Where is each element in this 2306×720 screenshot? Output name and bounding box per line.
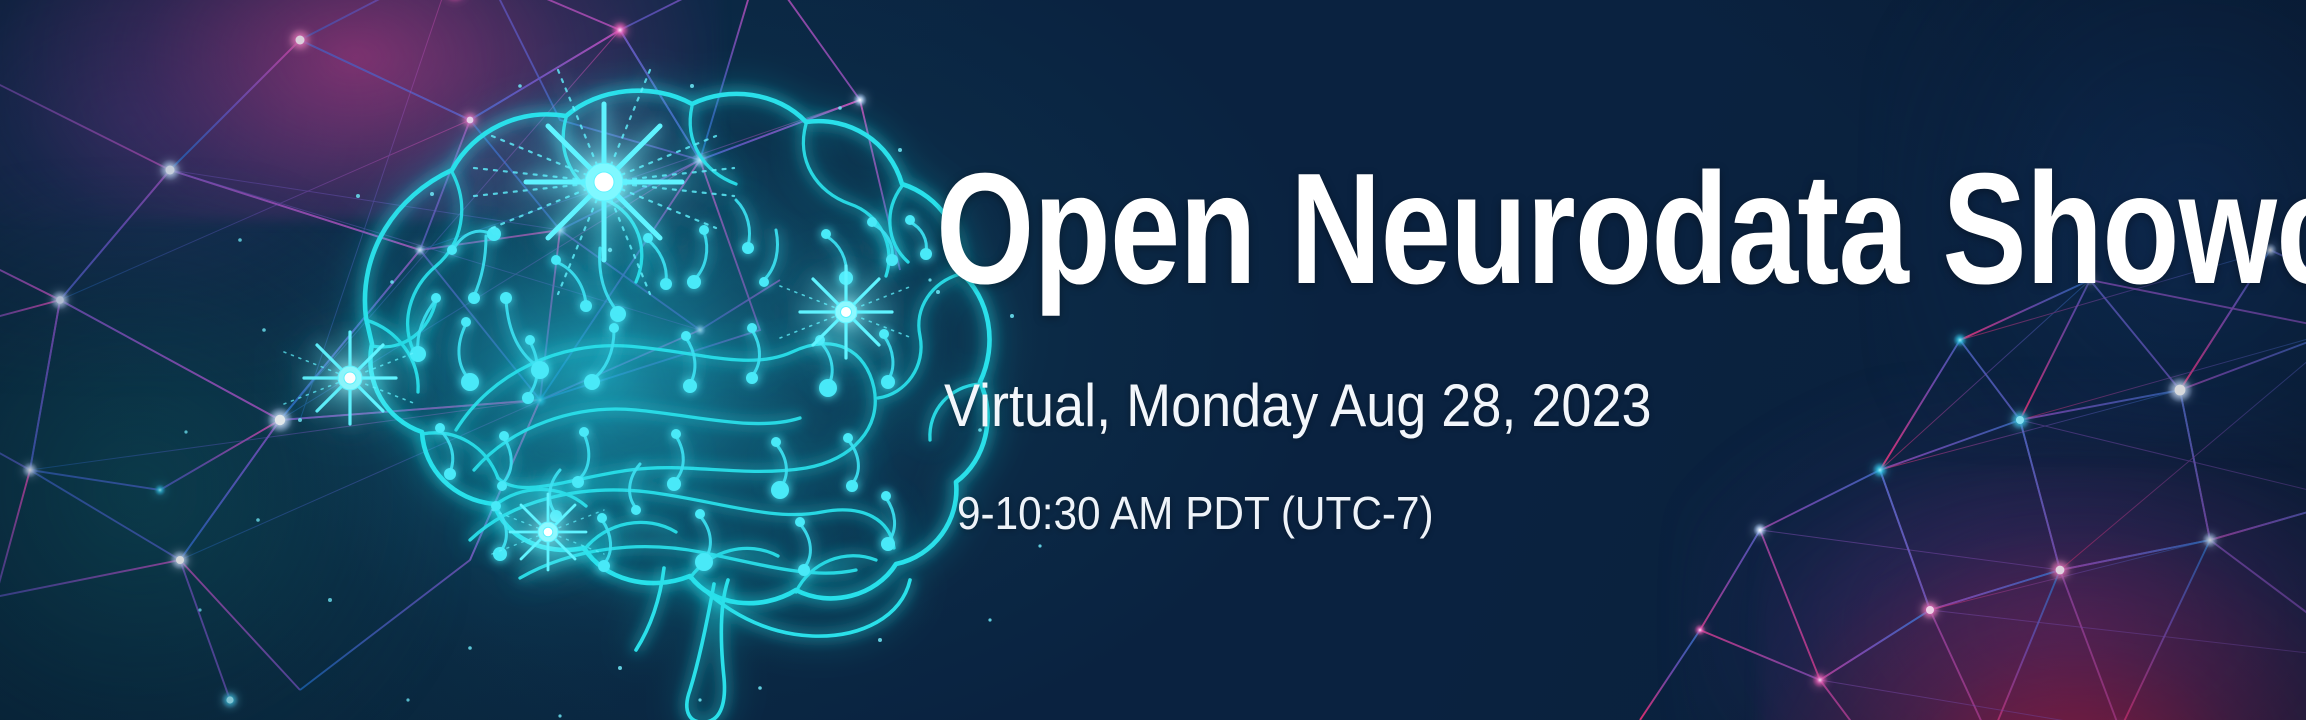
starburst-right xyxy=(780,266,912,358)
brain-neural-nodes xyxy=(410,215,932,576)
background-purple-glow-top-left xyxy=(0,0,490,380)
background-magenta-glow-bottom-right xyxy=(1680,380,2306,720)
event-subtitle: Virtual, Monday Aug 28, 2023 xyxy=(944,376,1652,436)
background-magenta-glow-top-left xyxy=(0,0,720,220)
event-banner: Open Neurodata Showcase Virtual, Monday … xyxy=(0,0,2306,720)
background-base-gradient xyxy=(0,0,2306,720)
network-mesh-top-left xyxy=(0,0,900,700)
network-nodes xyxy=(0,0,2306,720)
network-filaments-bottom-right xyxy=(1760,250,2306,720)
brain-outline xyxy=(365,91,990,604)
brain-core-glow xyxy=(350,180,850,580)
network-mesh-bottom-right xyxy=(1640,250,2306,720)
background-teal-glow-left xyxy=(0,180,450,720)
background-red-glow-bottom-right xyxy=(1760,470,2306,720)
neural-brain-illustration xyxy=(0,0,2306,720)
brain-gyri xyxy=(366,106,980,592)
event-time: 9-10:30 AM PDT (UTC-7) xyxy=(957,490,1434,536)
page-title: Open Neurodata Showcase xyxy=(936,150,1944,308)
network-filaments-top-left xyxy=(0,0,860,560)
starburst-bottom xyxy=(492,494,604,570)
brain-neural-branches xyxy=(418,200,927,568)
brain-particles xyxy=(184,84,1049,718)
event-text-block: Open Neurodata Showcase Virtual, Monday … xyxy=(936,150,2196,308)
starburst-top xyxy=(474,70,734,294)
brain-aura xyxy=(212,48,1012,708)
brain-cerebellum-stem xyxy=(636,568,910,720)
polygon-network-layer xyxy=(0,0,2306,720)
background-vignette xyxy=(0,0,2306,720)
starburst-left xyxy=(284,332,416,424)
